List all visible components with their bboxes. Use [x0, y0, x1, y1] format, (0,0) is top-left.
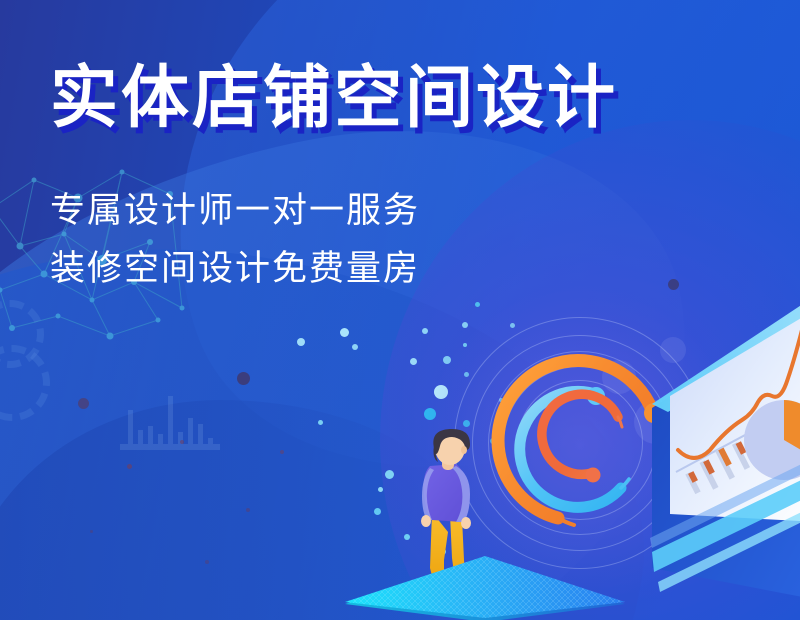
- page-title: 实体店铺空间设计: [50, 42, 618, 141]
- promo-banner: 实体店铺空间设计 专属设计师一对一服务 装修空间设计免费量房: [0, 0, 800, 620]
- scatter-dot-2: [297, 338, 305, 346]
- scatter-dot-3: [352, 344, 358, 350]
- scatter-dot-9: [410, 358, 417, 365]
- person-hand-left: [421, 515, 431, 527]
- person-hand-right: [461, 517, 471, 529]
- isometric-platform: [340, 556, 630, 620]
- scatter-dot-1: [340, 328, 349, 337]
- scatter-dot-4: [422, 328, 428, 334]
- scatter-dot-22: [318, 420, 323, 425]
- accent-dot-purple-1: [78, 398, 89, 409]
- accent-dot-purple-2: [237, 372, 250, 385]
- middle-cyan-arc: [520, 391, 621, 507]
- subtitle-line-1: 专属设计师一对一服务: [50, 182, 420, 233]
- inner-red-arc: [542, 394, 618, 474]
- inner-arc-end-dot: [586, 468, 601, 483]
- scatter-dot-14: [385, 470, 394, 479]
- accent-dot-purple-5: [180, 440, 184, 444]
- bar-chart-silhouette-icon: [120, 396, 220, 452]
- dashed-ring-lower-icon: [0, 345, 50, 421]
- person-ear: [461, 446, 467, 454]
- platform-grid-texture: [340, 556, 630, 620]
- accent-dot-purple-6: [280, 450, 284, 454]
- analytics-monitor: [648, 300, 800, 600]
- scatter-dot-16: [378, 487, 383, 492]
- accent-dot-purple-3: [668, 279, 679, 290]
- accent-dot-purple-7: [246, 508, 250, 512]
- scatter-dot-15: [374, 508, 381, 515]
- accent-dot-purple-8: [90, 530, 93, 533]
- accent-dot-purple-9: [205, 560, 209, 564]
- accent-dot-purple-4: [127, 464, 132, 469]
- subtitle-line-2: 装修空间设计免费量房: [50, 240, 420, 291]
- scatter-dot-21: [475, 302, 480, 307]
